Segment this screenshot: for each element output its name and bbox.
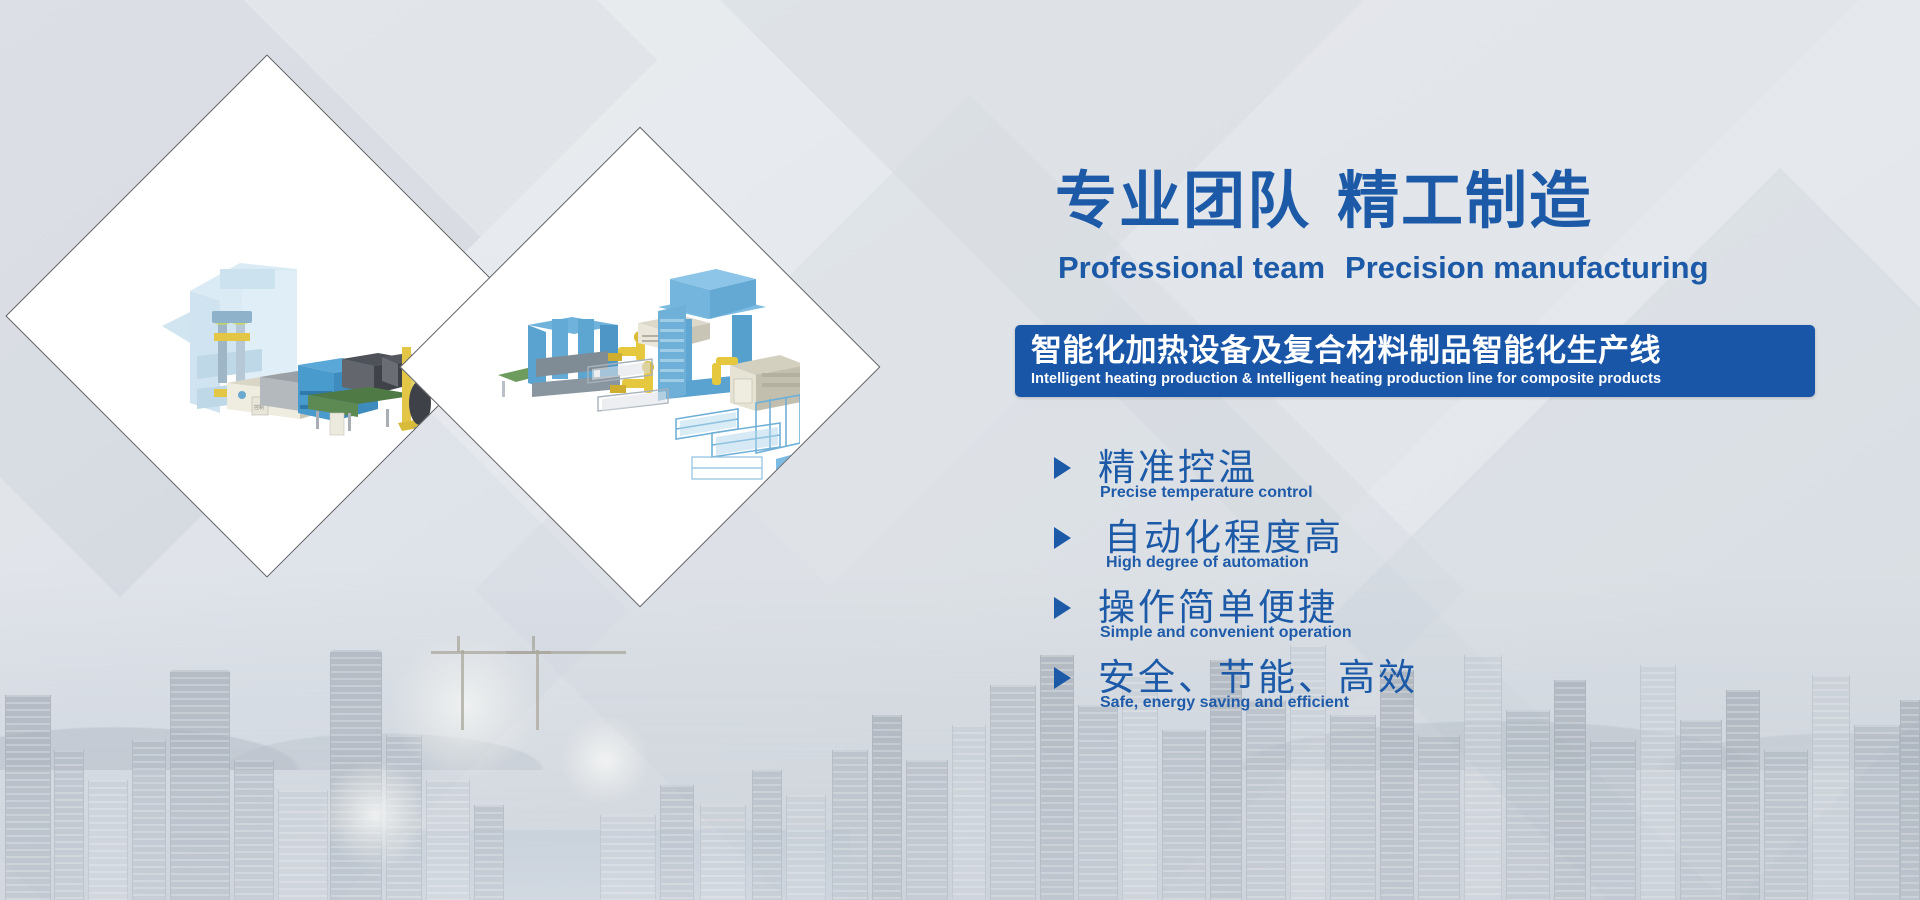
feature-label-en: Simple and convenient operation [1100, 624, 1352, 642]
feature-item: 安全、节能、高效 Safe, energy saving and efficie… [1054, 650, 1694, 720]
machine-illustration-1: 控制 [102, 151, 432, 481]
product-title-box: 智能化加热设备及复合材料制品智能化生产线 Intelligent heating… [1015, 325, 1815, 397]
headline-part-1: 专业团队 [1055, 164, 1311, 237]
product-title-cn: 智能化加热设备及复合材料制品智能化生产线 [1031, 334, 1801, 369]
feature-item: 自动化程度高 High degree of automation [1054, 510, 1694, 580]
machine-illustration-2 [480, 207, 800, 527]
feature-label-en: Safe, energy saving and efficient [1100, 694, 1349, 712]
skyline-light-flare [560, 715, 650, 805]
banner-text-column: 专业团队精工制造 Professional teamPrecision manu… [1040, 0, 1920, 900]
feature-label-en: High degree of automation [1106, 554, 1309, 572]
feature-label-cn: 操作简单便捷 [1098, 577, 1338, 631]
triangle-right-icon [1054, 667, 1071, 689]
skyline-light-flare [320, 760, 430, 870]
feature-list: 精准控温 Precise temperature control 自动化程度高 … [1054, 440, 1694, 720]
feature-item: 操作简单便捷 Simple and convenient operation [1054, 580, 1694, 650]
product-title-en: Intelligent heating production & Intelli… [1031, 371, 1801, 387]
feature-item: 精准控温 Precise temperature control [1054, 440, 1694, 510]
headline: 专业团队精工制造 [1055, 150, 1593, 240]
feature-label-en: Precise temperature control [1100, 484, 1313, 502]
feature-label-cn: 自动化程度高 [1104, 507, 1344, 561]
subheadline-part-1: Professional team [1058, 250, 1325, 285]
subheadline: Professional teamPrecision manufacturing [1058, 250, 1709, 286]
banner-stage: 控制 [0, 0, 1920, 900]
headline-part-2: 精工制造 [1337, 164, 1593, 237]
subheadline-part-2: Precision manufacturing [1345, 250, 1708, 285]
feature-label-cn: 精准控温 [1098, 437, 1258, 491]
triangle-right-icon [1054, 597, 1071, 619]
triangle-right-icon [1054, 527, 1071, 549]
feature-label-cn: 安全、节能、高效 [1098, 647, 1418, 701]
triangle-right-icon [1054, 457, 1071, 479]
